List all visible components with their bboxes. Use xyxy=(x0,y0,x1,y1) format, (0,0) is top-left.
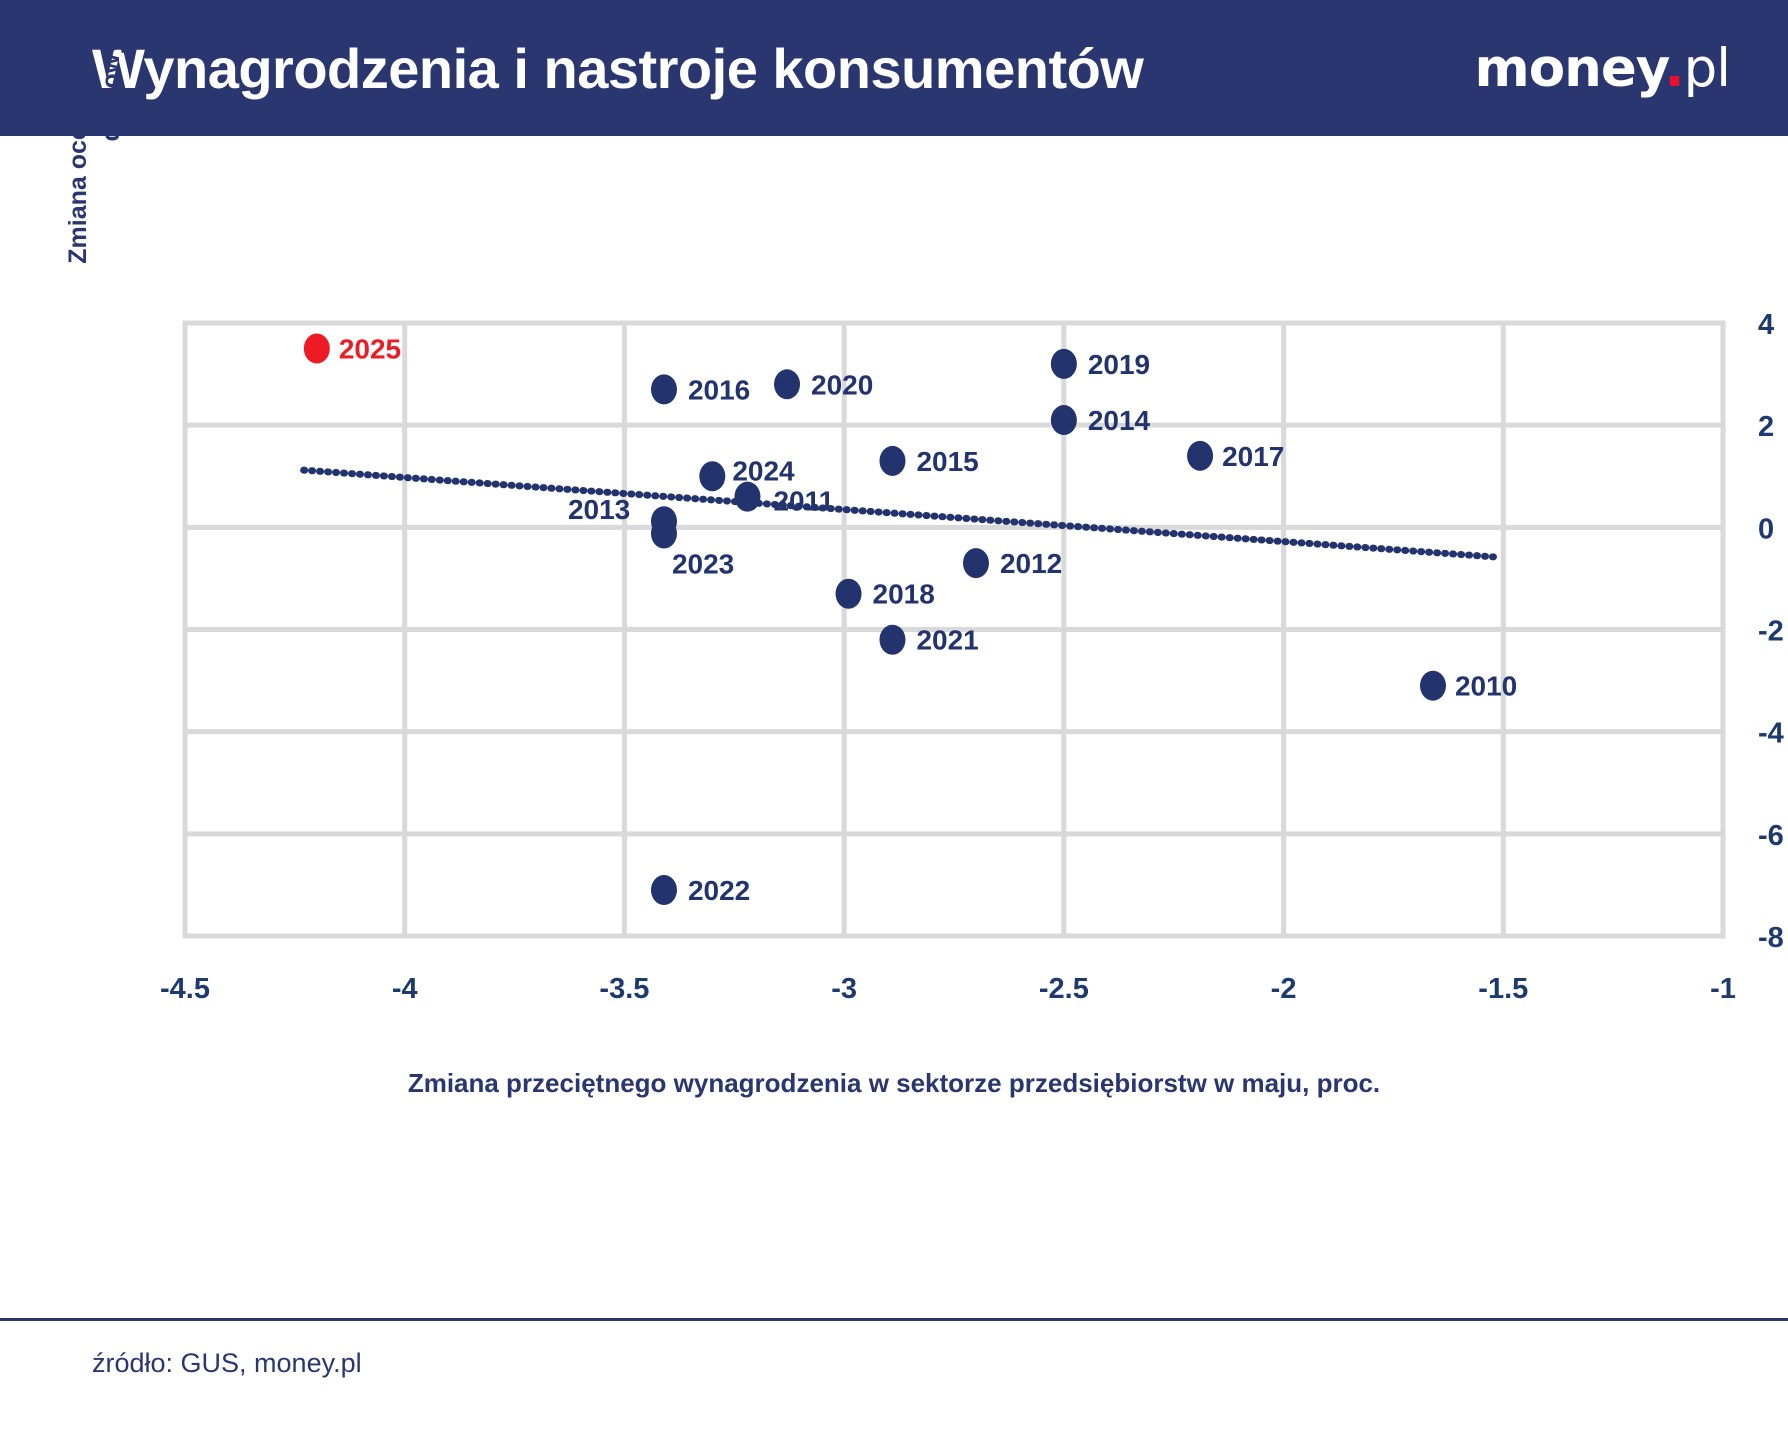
money-pl-logo: money.pl xyxy=(1474,38,1730,99)
data-point-2025: 2025 xyxy=(304,334,401,365)
point-marker xyxy=(879,625,905,655)
data-point-2012: 2012 xyxy=(963,548,1062,579)
point-label: 2014 xyxy=(1088,405,1151,436)
point-marker xyxy=(963,548,989,578)
point-marker xyxy=(1051,405,1077,435)
x-axis-title: Zmiana przeciętnego wynagrodzenia w sekt… xyxy=(0,1068,1788,1099)
point-marker xyxy=(304,334,330,364)
data-point-2019: 2019 xyxy=(1051,349,1150,380)
point-label: 2020 xyxy=(811,369,873,400)
brand-dot: . xyxy=(1664,38,1683,99)
footer-divider xyxy=(0,1318,1788,1321)
x-tick-label: -1.5 xyxy=(1478,973,1528,1005)
point-marker xyxy=(1187,441,1213,471)
trendline xyxy=(304,470,1495,557)
y-tick-label: -6 xyxy=(1758,820,1784,852)
point-label: 2016 xyxy=(688,374,750,405)
y-axis-ticks: 420-2-4-6-8 xyxy=(1758,309,1784,954)
data-point-2021: 2021 xyxy=(879,625,978,656)
y-tick-label: -2 xyxy=(1758,616,1784,648)
scatter-plot: 2025201920202016201420172015202420112013… xyxy=(0,136,1788,1296)
point-label: 2022 xyxy=(688,875,750,906)
data-point-2018: 2018 xyxy=(836,579,935,610)
header-bar: Wynagrodzenia i nastroje konsumentów mon… xyxy=(0,0,1788,136)
x-tick-label: -3 xyxy=(831,973,857,1005)
point-label: 2019 xyxy=(1088,349,1150,380)
point-label: 2015 xyxy=(916,446,978,477)
trendline-path xyxy=(304,470,1495,557)
point-label: 2023 xyxy=(672,548,734,579)
data-point-2016: 2016 xyxy=(651,374,750,405)
point-marker xyxy=(651,518,677,548)
point-marker xyxy=(651,875,677,905)
point-marker xyxy=(879,446,905,476)
point-marker xyxy=(699,461,725,491)
point-label: 2010 xyxy=(1455,671,1517,702)
y-tick-label: 0 xyxy=(1758,513,1774,545)
point-label: 2013 xyxy=(568,494,630,525)
brand-name: money xyxy=(1474,38,1664,99)
point-marker xyxy=(734,482,760,512)
point-label: 2024 xyxy=(732,455,795,486)
point-label: 2025 xyxy=(339,334,401,365)
data-point-2015: 2015 xyxy=(879,446,978,477)
y-tick-label: -4 xyxy=(1758,718,1784,750)
point-label: 2011 xyxy=(773,486,834,517)
point-marker xyxy=(1420,671,1446,701)
point-label: 2018 xyxy=(873,579,935,610)
data-points: 2025201920202016201420172015202420112013… xyxy=(304,334,1517,906)
point-label: 2017 xyxy=(1222,441,1284,472)
data-point-2017: 2017 xyxy=(1187,441,1284,472)
point-marker xyxy=(836,579,862,609)
source-note: źródło: GUS, money.pl xyxy=(92,1348,362,1379)
y-tick-label: 4 xyxy=(1758,309,1774,341)
data-point-2014: 2014 xyxy=(1051,405,1151,436)
y-tick-label: 2 xyxy=(1758,411,1774,443)
x-tick-label: -3.5 xyxy=(599,973,649,1005)
data-point-2020: 2020 xyxy=(774,369,873,400)
chart-container: 2025201920202016201420172015202420112013… xyxy=(0,136,1788,1296)
point-marker xyxy=(774,369,800,399)
x-tick-label: -4.5 xyxy=(160,973,210,1005)
point-label: 2021 xyxy=(916,625,978,656)
x-tick-label: -2.5 xyxy=(1039,973,1089,1005)
point-marker xyxy=(651,374,677,404)
brand-tld: pl xyxy=(1684,38,1730,99)
x-tick-label: -2 xyxy=(1271,973,1297,1005)
x-tick-label: -1 xyxy=(1710,973,1736,1005)
point-marker xyxy=(1051,349,1077,379)
data-point-2010: 2010 xyxy=(1420,671,1517,702)
page-title: Wynagrodzenia i nastroje konsumentów xyxy=(92,36,1143,101)
y-tick-label: -8 xyxy=(1758,922,1784,954)
x-tick-label: -4 xyxy=(392,973,418,1005)
point-label: 2012 xyxy=(1000,548,1062,579)
data-point-2022: 2022 xyxy=(651,875,750,906)
data-point-2011: 2011 xyxy=(734,482,834,517)
x-axis-ticks: -4.5-4-3.5-3-2.5-2-1.5-1 xyxy=(160,973,1736,1005)
